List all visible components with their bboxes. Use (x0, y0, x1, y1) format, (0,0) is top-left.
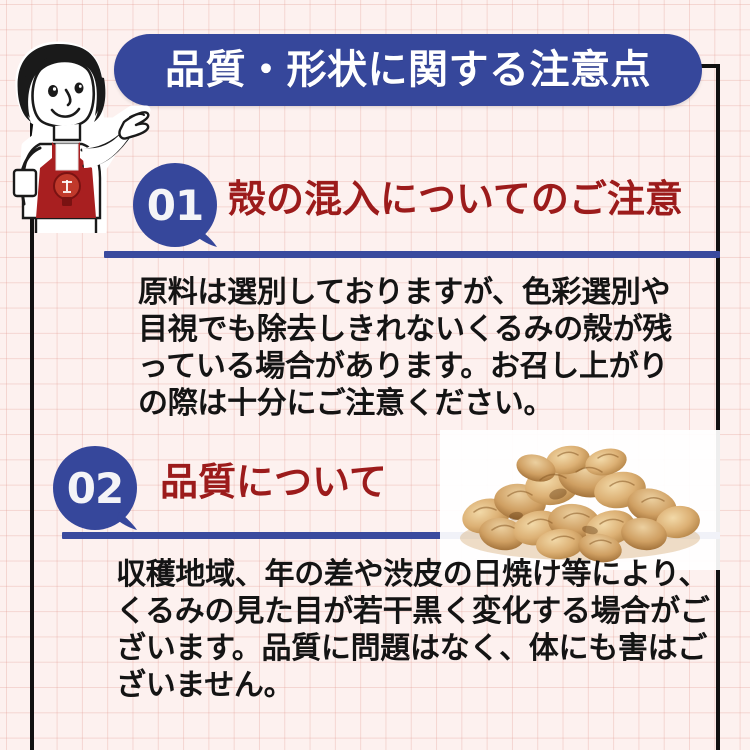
infographic-page: 品質・形状に関する注意点 (0, 0, 750, 750)
apron-badge-tag (62, 197, 72, 206)
body-line: っている場合があります。お召し上がり (138, 348, 678, 385)
eye-right (75, 83, 84, 94)
body-line: ざいません。 (116, 667, 696, 704)
body-line: 目視でも除去しきれないくるみの殻が残 (138, 311, 678, 348)
cuff-left (14, 170, 36, 196)
frame-border-right (716, 64, 720, 750)
body-line: 原料は選別しておりますが、色彩選別や (138, 274, 678, 311)
section-badge-02: 02 (53, 446, 145, 538)
body-line: 収穫地域、年の差や渋皮の日焼け等により、 (116, 556, 696, 593)
section-heading-01: 殻の混入についてのご注意 (228, 180, 683, 218)
body-line: ざいます。品質に問題はなく、体にも害はご (116, 630, 696, 667)
body-line: の際は十分にご注意ください。 (138, 385, 678, 422)
section-body-02: 収穫地域、年の差や渋皮の日焼け等により、 くるみの見た目が若干黒く変化する場合が… (116, 556, 696, 704)
eye-right-highlight (79, 85, 82, 88)
eye-left-highlight (53, 87, 56, 91)
neck (54, 124, 80, 140)
header-banner: 品質・形状に関する注意点 (114, 34, 702, 106)
eye-left (48, 85, 58, 97)
section-number-01: 01 (133, 163, 217, 247)
section-divider-01 (104, 251, 720, 258)
section-number-02: 02 (53, 446, 137, 530)
section-badge-01: 01 (133, 163, 225, 255)
body-line: くるみの見た目が若干黒く変化する場合がご (116, 593, 696, 630)
apron-bib-patch (56, 144, 78, 170)
page-title: 品質・形状に関する注意点 (165, 50, 651, 90)
walnut-halves-photo (440, 430, 720, 570)
section-body-01: 原料は選別しておりますが、色彩選別や 目視でも除去しきれないくるみの殻が残 って… (138, 274, 678, 422)
section-heading-02: 品質について (160, 463, 387, 501)
